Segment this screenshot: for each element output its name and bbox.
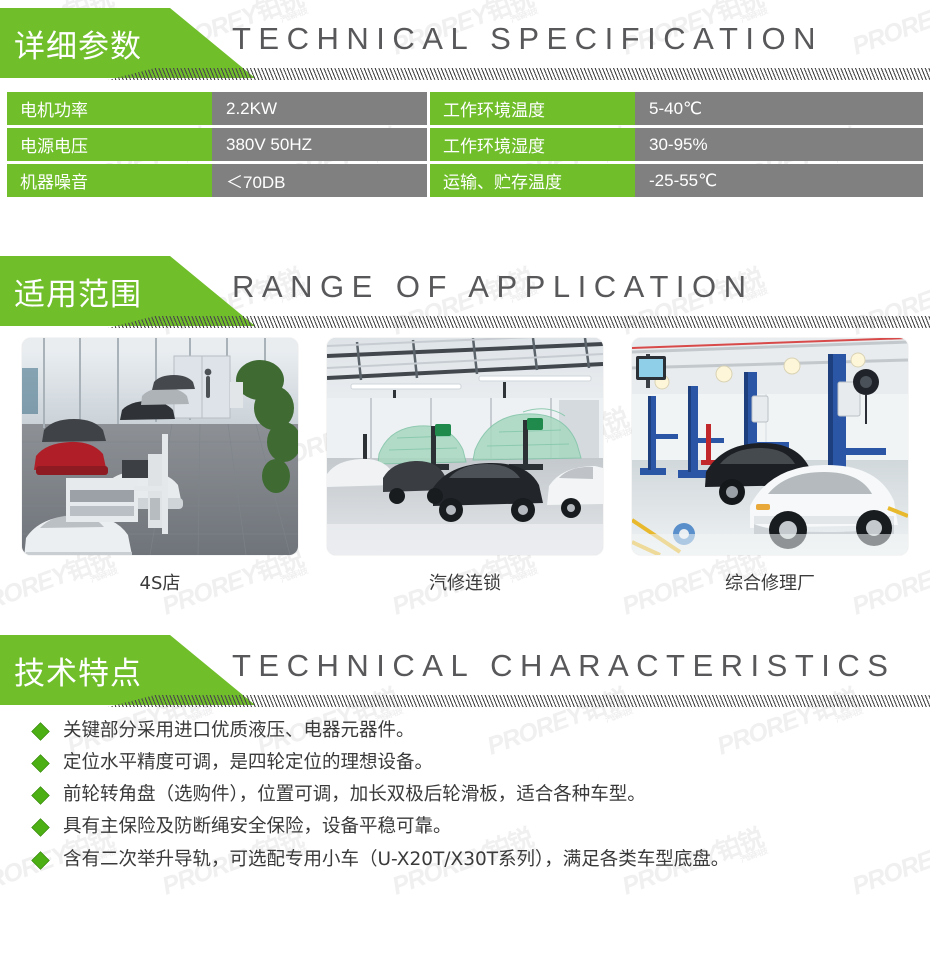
section-title-cn: 详细参数 — [0, 21, 142, 66]
list-item: 前轮转角盘（选购件），位置可调，加长双极后轮滑板，适合各种车型。 — [34, 783, 930, 806]
list-item: 综合修理厂 — [632, 338, 908, 595]
application-photo-dealership — [22, 338, 298, 555]
spec-value: 5-40℃ — [635, 92, 923, 125]
section-badge: 详细参数 — [0, 8, 260, 78]
repair-chain-workshop-illustration — [327, 338, 603, 555]
characteristic-text: 关键部分采用进口优质液压、电器元器件。 — [63, 719, 415, 742]
application-photo-general-repair-shop — [632, 338, 908, 555]
spec-label: 工作环境湿度 — [430, 128, 635, 161]
diamond-bullet-icon — [31, 819, 49, 837]
table-row: 电源电压 380V 50HZ 工作环境湿度 30-95% — [7, 128, 923, 161]
photo-caption: 汽修连锁 — [327, 569, 603, 595]
diamond-bullet-icon — [31, 722, 49, 740]
characteristics-list: 关键部分采用进口优质液压、电器元器件。 定位水平精度可调，是四轮定位的理想设备。… — [0, 719, 930, 871]
diamond-bullet-icon — [31, 851, 49, 869]
photo-caption: 4S店 — [22, 569, 298, 595]
section-badge: 技术特点 — [0, 635, 260, 705]
diamond-bullet-icon — [31, 754, 49, 772]
spec-value: 2.2KW — [212, 92, 427, 125]
characteristic-text: 含有二次举升导轨，可选配专用小车（U-X20T/X30T系列），满足各类车型底盘… — [63, 848, 729, 871]
characteristic-text: 具有主保险及防断绳安全保险，设备平稳可靠。 — [63, 815, 452, 838]
spec-label: 电源电压 — [7, 128, 212, 161]
section-title-cn: 技术特点 — [0, 648, 142, 693]
section-title-en: TECHNICAL SPECIFICATION — [232, 8, 823, 70]
diamond-bullet-icon — [31, 787, 49, 805]
table-row: 电机功率 2.2KW 工作环境温度 5-40℃ — [7, 92, 923, 125]
section-title-en: TECHNICAL CHARACTERISTICS — [232, 635, 895, 697]
application-photo-repair-chain — [327, 338, 603, 555]
hatch-stripe-decoration — [108, 68, 930, 80]
dealership-showroom-illustration — [22, 338, 298, 555]
product-spec-page: 详细参数 TECHNICAL SPECIFICATION 电机功率 2.2KW … — [0, 0, 930, 963]
list-item: 含有二次举升导轨，可选配专用小车（U-X20T/X30T系列），满足各类车型底盘… — [34, 848, 930, 871]
spec-label: 机器噪音 — [7, 164, 212, 197]
spec-label: 电机功率 — [7, 92, 212, 125]
characteristic-text: 定位水平精度可调，是四轮定位的理想设备。 — [63, 751, 433, 774]
spec-value: 30-95% — [635, 128, 923, 161]
spec-label: 运输、贮存温度 — [430, 164, 635, 197]
spec-value: 380V 50HZ — [212, 128, 427, 161]
list-item: 具有主保险及防断绳安全保险，设备平稳可靠。 — [34, 815, 930, 838]
spec-value: -25-55℃ — [635, 164, 923, 197]
general-repair-shop-illustration — [632, 338, 908, 555]
section-badge: 适用范围 — [0, 256, 260, 326]
photo-caption: 综合修理厂 — [632, 569, 908, 595]
section-header-range-of-application: 适用范围 RANGE OF APPLICATION — [0, 248, 930, 326]
section-title-en: RANGE OF APPLICATION — [232, 256, 754, 318]
list-item: 汽修连锁 — [327, 338, 603, 595]
characteristic-text: 前轮转角盘（选购件），位置可调，加长双极后轮滑板，适合各种车型。 — [63, 783, 646, 806]
hatch-stripe-decoration — [108, 695, 930, 707]
list-item: 关键部分采用进口优质液压、电器元器件。 — [34, 719, 930, 742]
table-row: 机器噪音 ＜70DB 运输、贮存温度 -25-55℃ — [7, 164, 923, 197]
spec-value: ＜70DB — [212, 164, 427, 197]
hatch-stripe-decoration — [108, 316, 930, 328]
section-header-technical-characteristics: 技术特点 TECHNICAL CHARACTERISTICS — [0, 627, 930, 705]
section-header-technical-specification: 详细参数 TECHNICAL SPECIFICATION — [0, 0, 930, 78]
specification-table: 电机功率 2.2KW 工作环境温度 5-40℃ 电源电压 380V 50HZ 工… — [7, 89, 923, 200]
application-photo-row: 4S店 — [0, 326, 930, 595]
list-item: 4S店 — [22, 338, 298, 595]
spec-label: 工作环境温度 — [430, 92, 635, 125]
list-item: 定位水平精度可调，是四轮定位的理想设备。 — [34, 751, 930, 774]
section-title-cn: 适用范围 — [0, 269, 142, 314]
